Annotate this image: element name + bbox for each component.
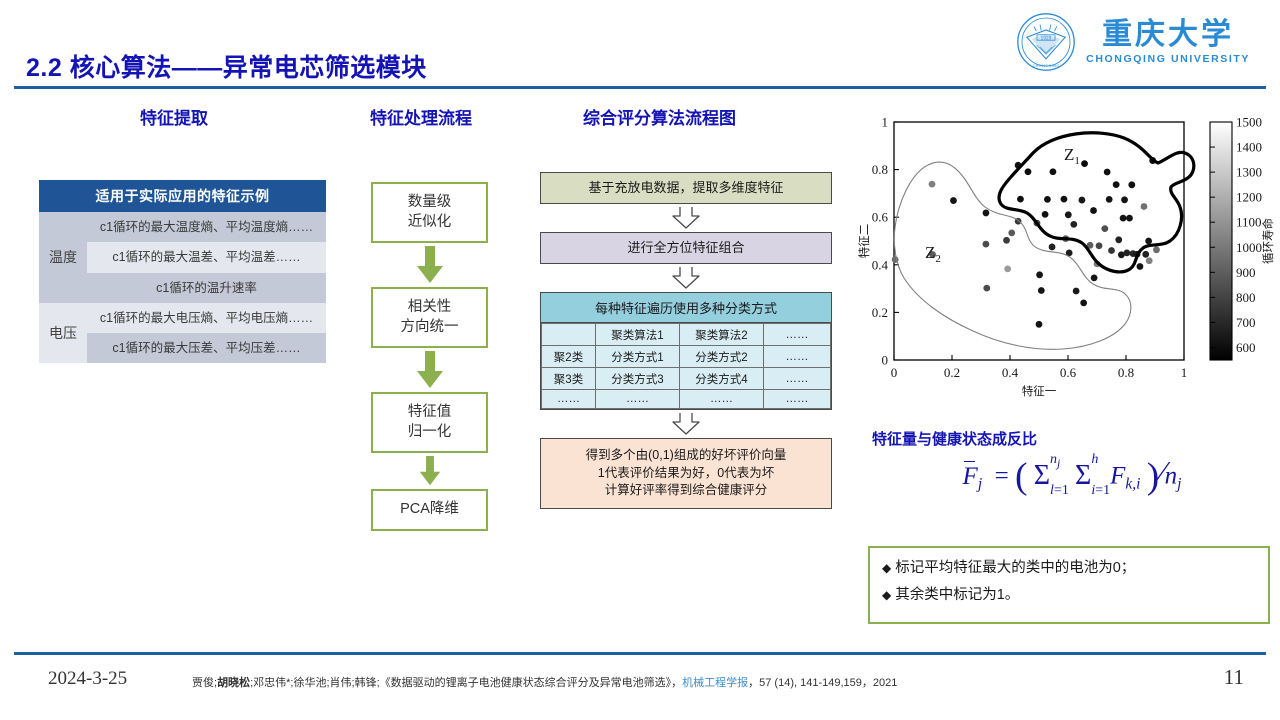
data-point	[1121, 196, 1128, 203]
data-point	[983, 241, 990, 248]
svg-text:0.4: 0.4	[872, 257, 889, 272]
heading-feature-extraction: 特征提取	[140, 104, 208, 129]
header-divider	[14, 86, 1266, 89]
diamond-bullet-icon: ◆	[882, 561, 891, 575]
data-point	[1080, 299, 1087, 306]
svg-text:0.6: 0.6	[1060, 365, 1077, 380]
data-point	[1042, 211, 1049, 218]
scoring-step-1: 基于充放电数据，提取多维度特征	[540, 172, 832, 204]
table-header-row: 适用于实际应用的特征示例	[39, 180, 326, 212]
svg-text:700: 700	[1236, 315, 1256, 330]
feature-table-header: 适用于实际应用的特征示例	[39, 180, 326, 212]
footer-divider	[14, 652, 1266, 655]
citation-part-3: ，57 (14), 141-149,159，2021	[748, 677, 897, 689]
cluster-block-title: 每种特征遍历使用多种分类方式	[541, 293, 831, 323]
data-point	[1142, 251, 1149, 258]
data-point	[1104, 169, 1111, 176]
data-point	[1065, 211, 1072, 218]
data-point	[1044, 196, 1051, 203]
cell: ……	[764, 390, 831, 409]
cluster-method-table: 聚类算法1 聚类算法2 …… 聚2类 分类方式1 分类方式2 …… 聚3类 分类…	[541, 323, 831, 409]
data-point	[1003, 237, 1010, 244]
table-row: 电压 c1循环的最大电压熵、平均电压熵……	[39, 303, 326, 333]
svg-text:1300: 1300	[1236, 165, 1262, 180]
process-step-1: 数量级近似化	[371, 182, 488, 243]
feature-example-table: 适用于实际应用的特征示例 温度 c1循环的最大温度熵、平均温度熵…… c1循环的…	[39, 180, 326, 363]
university-seal-icon: 1929 CHONGQING	[1016, 12, 1076, 72]
svg-text:0.2: 0.2	[944, 365, 960, 380]
bullet-text: 其余类中标记为1。	[895, 587, 1019, 603]
table-row: 聚类算法1 聚类算法2 ……	[542, 324, 831, 346]
data-point	[1137, 263, 1144, 270]
result-line-2: 1代表评价结果为好，0代表为坏	[545, 465, 827, 483]
logo-english-name: CHONGQING UNIVERSITY	[1086, 53, 1250, 65]
process-step-4: PCA降维	[371, 489, 488, 531]
data-point	[1073, 288, 1080, 295]
data-point	[1017, 196, 1024, 203]
logo-chinese-name: 重庆大学	[1102, 20, 1234, 50]
svg-text:1000: 1000	[1236, 240, 1262, 255]
process-step-2: 相关性方向统一	[371, 287, 488, 348]
hollow-arrow-icon	[540, 204, 832, 232]
cell	[542, 324, 596, 346]
data-point	[1081, 160, 1088, 167]
data-point	[1061, 196, 1068, 203]
data-point	[1153, 246, 1160, 253]
y-axis-label: 特征二	[858, 224, 871, 259]
svg-text:0.6: 0.6	[872, 210, 889, 225]
bullet-item: ◆标记平均特征最大的类中的电池为0；	[882, 555, 1256, 582]
cell: ……	[596, 390, 680, 409]
data-point	[1146, 257, 1153, 264]
x-axis-label: 特征一	[1022, 384, 1057, 398]
svg-text:0: 0	[891, 365, 898, 380]
svg-text:1: 1	[882, 115, 889, 130]
cell: ……	[680, 390, 764, 409]
cell: 分类方式4	[680, 368, 764, 390]
result-line-1: 得到多个由(0,1)组成的好坏评价向量	[545, 447, 827, 465]
result-line-3: 计算好评率得到综合健康评分	[545, 482, 827, 500]
page-number: 11	[1224, 665, 1244, 690]
data-point	[1108, 247, 1115, 254]
category-voltage: 电压	[39, 303, 87, 363]
cell: ……	[764, 368, 831, 390]
data-point	[1036, 271, 1043, 278]
data-point	[929, 181, 936, 188]
cell: 分类方式2	[680, 346, 764, 368]
citation-part-2: ;邓忠伟*;徐华池;肖伟;韩锋;《数据驱动的锂离子电池健康状态综合评分及异常电池…	[250, 677, 682, 689]
footer-citation: 贾俊;胡晓松;邓忠伟*;徐华池;肖伟;韩锋;《数据驱动的锂离子电池健康状态综合评…	[192, 674, 897, 690]
citation-journal[interactable]: 机械工程学报	[682, 677, 748, 689]
svg-text:1929: 1929	[1041, 35, 1052, 40]
feature-cell: c1循环的最大温差、平均温差……	[87, 242, 326, 272]
svg-text:0.8: 0.8	[1118, 365, 1134, 380]
footer-date: 2024-3-25	[48, 668, 127, 690]
flow-arrow-icon	[371, 243, 488, 287]
data-point	[1126, 215, 1133, 222]
marking-rules-box: ◆标记平均特征最大的类中的电池为0； ◆其余类中标记为1。	[868, 546, 1270, 624]
data-point	[1145, 238, 1152, 245]
data-point	[1120, 215, 1127, 222]
bullet-text: 标记平均特征最大的类中的电池为0；	[895, 560, 1135, 576]
table-row: 温度 c1循环的最大温度熵、平均温度熵……	[39, 212, 326, 242]
cluster-method-block: 每种特征遍历使用多种分类方式 聚类算法1 聚类算法2 …… 聚2类 分类方式1 …	[540, 292, 832, 410]
cell: 聚3类	[542, 368, 596, 390]
inverse-relation-heading: 特征量与健康状态成反比	[872, 428, 1037, 449]
cell: 聚类算法1	[596, 324, 680, 346]
table-row: 聚2类 分类方式1 分类方式2 ……	[542, 346, 831, 368]
feature-scatter-chart: 00.20.40.60.81 00.20.40.60.81 Z1 Z2 特征一 …	[858, 112, 1280, 402]
scoring-step-2: 进行全方位特征组合	[540, 232, 832, 264]
data-point	[1091, 274, 1098, 281]
cell: 聚2类	[542, 346, 596, 368]
process-step-3: 特征值归一化	[371, 392, 488, 453]
data-point	[1049, 244, 1056, 251]
cell: ……	[764, 324, 831, 346]
heading-scoring-flowchart: 综合评分算法流程图	[583, 104, 736, 129]
hollow-arrow-icon	[540, 410, 832, 438]
flow-arrow-icon	[371, 453, 488, 489]
cell: 分类方式1	[596, 346, 680, 368]
data-point	[1096, 242, 1103, 249]
feature-cell: c1循环的最大压差、平均压差……	[87, 333, 326, 363]
colorbar-label: 循环寿命	[1261, 218, 1275, 264]
table-row: 聚3类 分类方式3 分类方式4 ……	[542, 368, 831, 390]
scatter-plot-svg: 00.20.40.60.81 00.20.40.60.81 Z1 Z2 特征一 …	[858, 112, 1280, 402]
data-point	[1106, 196, 1113, 203]
data-point	[1038, 287, 1045, 294]
data-point	[1141, 203, 1148, 210]
table-row: …… …… …… ……	[542, 390, 831, 409]
category-temperature: 温度	[39, 212, 87, 302]
svg-text:0.2: 0.2	[872, 305, 888, 320]
citation-author-bold: 胡晓松	[217, 677, 250, 689]
data-point	[1128, 181, 1135, 188]
feature-process-flow: 数量级近似化 相关性方向统一 特征值归一化 PCA降维	[371, 182, 488, 531]
data-point	[1036, 321, 1043, 328]
data-point	[1090, 207, 1097, 214]
diamond-bullet-icon: ◆	[882, 588, 891, 602]
data-point	[1101, 225, 1108, 232]
data-point	[983, 210, 990, 217]
scoring-flowchart: 基于充放电数据，提取多维度特征 进行全方位特征组合 每种特征遍历使用多种分类方式…	[540, 172, 832, 509]
scoring-result-box: 得到多个由(0,1)组成的好坏评价向量 1代表评价结果为好，0代表为坏 计算好评…	[540, 438, 832, 509]
data-point	[1050, 168, 1057, 175]
data-point	[1025, 168, 1032, 175]
citation-part-1: 贾俊;	[192, 677, 217, 689]
page-title: 2.2 核心算法——异常电芯筛选模块	[26, 48, 427, 84]
svg-text:1100: 1100	[1236, 215, 1262, 230]
data-point	[1008, 230, 1015, 237]
svg-text:1400: 1400	[1236, 140, 1262, 155]
hollow-arrow-icon	[540, 264, 832, 292]
data-point	[1113, 181, 1120, 188]
average-feature-formula: Fj = ( Σnjl=1 Σhi=1 Fk,i )⁄nj	[872, 455, 1272, 498]
data-point	[1115, 236, 1122, 243]
cell: ……	[764, 346, 831, 368]
svg-text:CHONGQING: CHONGQING	[1033, 63, 1060, 68]
bullet-item: ◆其余类中标记为1。	[882, 582, 1256, 609]
data-point	[1004, 265, 1011, 272]
heading-feature-process: 特征处理流程	[370, 104, 472, 129]
cell: 分类方式3	[596, 368, 680, 390]
cell: 聚类算法2	[680, 324, 764, 346]
svg-text:600: 600	[1236, 340, 1256, 355]
svg-text:0.4: 0.4	[1002, 365, 1019, 380]
data-point	[1123, 250, 1130, 257]
svg-text:900: 900	[1236, 265, 1256, 280]
flow-arrow-icon	[371, 348, 488, 392]
feature-cell: c1循环的最大电压熵、平均电压熵……	[87, 303, 326, 333]
data-point	[950, 197, 957, 204]
data-point	[983, 285, 990, 292]
svg-text:800: 800	[1236, 290, 1256, 305]
svg-text:0.8: 0.8	[872, 162, 888, 177]
feature-cell: c1循环的温升速率	[87, 273, 326, 303]
svg-text:1200: 1200	[1236, 190, 1262, 205]
university-logo: 1929 CHONGQING 重庆大学 CHONGQING UNIVERSITY	[1016, 12, 1250, 72]
svg-text:0: 0	[882, 353, 889, 368]
colorbar-gradient	[1210, 122, 1232, 360]
data-point	[1070, 221, 1077, 228]
feature-cell: c1循环的最大温度熵、平均温度熵……	[87, 212, 326, 242]
data-point	[1079, 197, 1086, 204]
cell: ……	[542, 390, 596, 409]
svg-text:1: 1	[1181, 365, 1188, 380]
svg-text:1500: 1500	[1236, 115, 1262, 130]
